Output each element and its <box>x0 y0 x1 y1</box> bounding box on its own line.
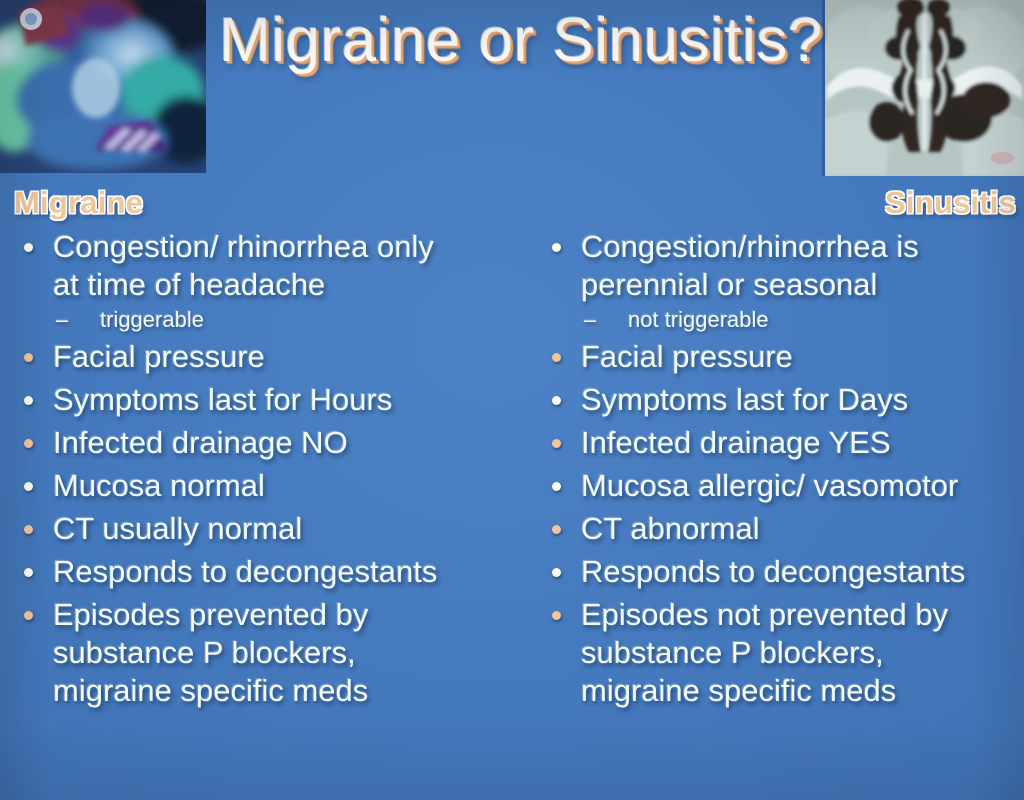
bullet-dot-icon <box>24 396 33 405</box>
bullet-dot-icon <box>24 353 33 362</box>
sub-bullet-list: – not triggerable <box>536 306 1024 334</box>
sub-list-item: – not triggerable <box>582 306 1024 334</box>
column-migraine: Migraine Congestion/ rhinorrhea only at … <box>0 186 520 715</box>
bullet-line: CT usually normal <box>53 510 520 548</box>
bullet-line: Symptoms last for Hours <box>53 381 520 419</box>
migraine-art-graphic <box>0 0 206 173</box>
list-item: Episodes not prevented by substance P bl… <box>536 596 1024 710</box>
bullet-dot-icon <box>24 243 33 252</box>
list-item: Symptoms last for Hours <box>8 381 520 419</box>
sinus-ct-graphic <box>825 0 1024 176</box>
sub-bullet-label: triggerable <box>100 307 204 332</box>
list-item: Infected drainage YES <box>536 424 1024 462</box>
bullet-line: at time of headache <box>53 266 520 304</box>
list-item: CT abnormal <box>536 510 1024 548</box>
bullet-dot-icon <box>24 439 33 448</box>
sub-bullet-dash-icon: – <box>56 306 68 334</box>
sinus-ct-image <box>822 0 1024 176</box>
bullet-dot-icon <box>24 568 33 577</box>
bullet-list-migraine: Congestion/ rhinorrhea only at time of h… <box>0 228 520 710</box>
bullet-dot-icon <box>552 568 561 577</box>
list-item: Infected drainage NO <box>8 424 520 462</box>
list-item: Facial pressure <box>8 338 520 376</box>
bullet-line: Facial pressure <box>581 338 1024 376</box>
bullet-dot-icon <box>552 396 561 405</box>
bullet-line: substance P blockers, <box>581 634 1024 672</box>
bullet-line: Episodes prevented by <box>53 596 520 634</box>
sub-bullet-dash-icon: – <box>584 306 596 334</box>
list-item: Mucosa allergic/ vasomotor <box>536 467 1024 505</box>
bullet-line: Responds to decongestants <box>581 553 1024 591</box>
bullet-list-sinusitis: Congestion/rhinorrhea is perennial or se… <box>524 228 1024 710</box>
bullet-dot-icon <box>552 482 561 491</box>
bullet-line: Mucosa allergic/ vasomotor <box>581 467 1024 505</box>
bullet-line: Mucosa normal <box>53 467 520 505</box>
bullet-dot-icon <box>552 439 561 448</box>
bullet-line: migraine specific meds <box>53 672 520 710</box>
list-item: Congestion/ rhinorrhea only at time of h… <box>8 228 520 304</box>
bullet-line: Symptoms last for Days <box>581 381 1024 419</box>
list-item: Mucosa normal <box>8 467 520 505</box>
list-item: Responds to decongestants <box>536 553 1024 591</box>
bullet-line: CT abnormal <box>581 510 1024 548</box>
bullet-dot-icon <box>24 611 33 620</box>
bullet-line: Congestion/rhinorrhea is <box>581 228 1024 266</box>
column-heading-migraine: Migraine <box>0 186 520 220</box>
bullet-line: Infected drainage YES <box>581 424 1024 462</box>
sub-list-item: – triggerable <box>54 306 520 334</box>
list-item: Facial pressure <box>536 338 1024 376</box>
bullet-dot-icon <box>552 611 561 620</box>
list-item: Responds to decongestants <box>8 553 520 591</box>
list-item: CT usually normal <box>8 510 520 548</box>
sub-bullet-label: not triggerable <box>628 307 769 332</box>
bullet-line: Responds to decongestants <box>53 553 520 591</box>
sub-bullet-list: – triggerable <box>8 306 520 334</box>
page-title: Migraine or Sinusitis? <box>216 6 826 76</box>
bullet-dot-icon <box>552 243 561 252</box>
list-item: Episodes prevented by substance P blocke… <box>8 596 520 710</box>
bullet-line: Episodes not prevented by <box>581 596 1024 634</box>
bullet-dot-icon <box>552 353 561 362</box>
list-item: Congestion/rhinorrhea is perennial or se… <box>536 228 1024 304</box>
column-heading-sinusitis: Sinusitis <box>524 186 1024 220</box>
bullet-dot-icon <box>24 482 33 491</box>
migraine-art-image <box>0 0 206 173</box>
list-item: Symptoms last for Days <box>536 381 1024 419</box>
bullet-line: Facial pressure <box>53 338 520 376</box>
bullet-dot-icon <box>552 525 561 534</box>
bullet-line: migraine specific meds <box>581 672 1024 710</box>
bullet-line: perennial or seasonal <box>581 266 1024 304</box>
slide-canvas: Migraine or Sinusitis? Migraine Congesti… <box>0 0 1024 800</box>
bullet-dot-icon <box>24 525 33 534</box>
column-sinusitis: Sinusitis Congestion/rhinorrhea is peren… <box>524 186 1024 715</box>
bullet-line: Congestion/ rhinorrhea only <box>53 228 520 266</box>
bullet-line: Infected drainage NO <box>53 424 520 462</box>
bullet-line: substance P blockers, <box>53 634 520 672</box>
